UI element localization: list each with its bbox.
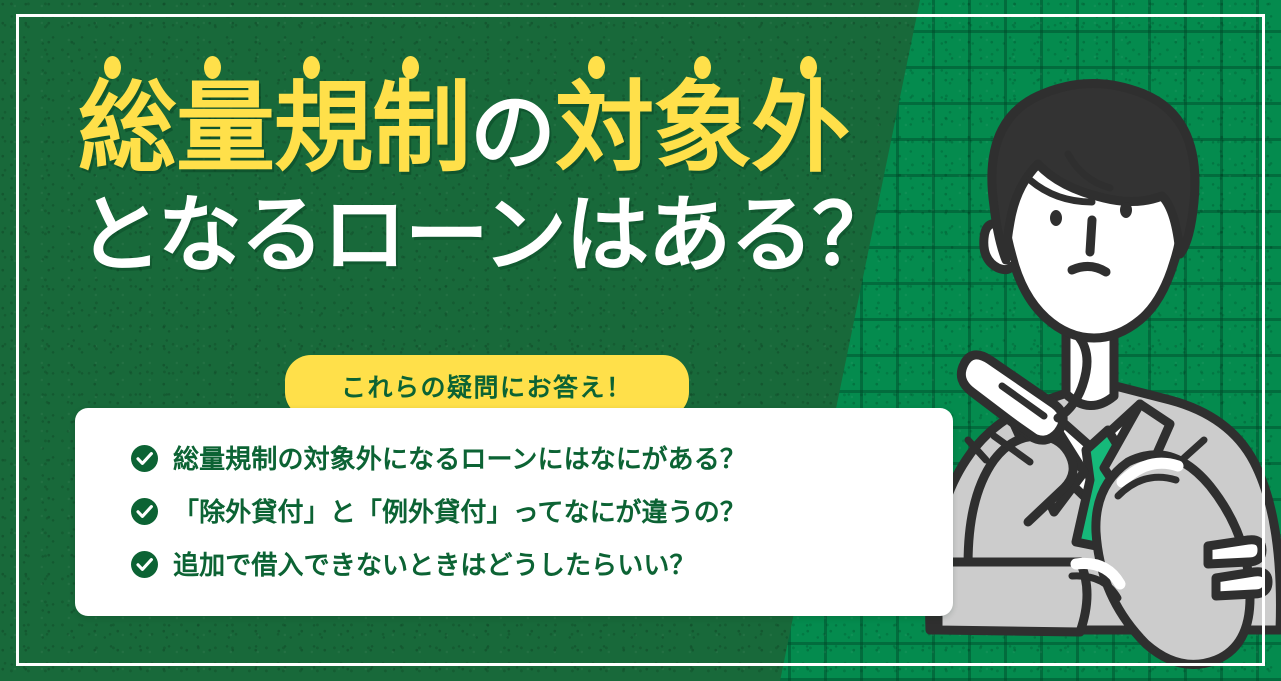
question-list: 総量規制の対象外になるローンにはなにがある？ 「除外貸付」と「例外貸付」ってなに… bbox=[75, 408, 953, 582]
banner-root: 総量規制の対象外 となるローンはある？ これらの疑問にお答え！ 総量規制の対象外… bbox=[0, 0, 1281, 681]
check-circle-icon bbox=[131, 498, 158, 525]
check-circle-icon bbox=[131, 551, 158, 578]
headline-line-1-part-3: 対象外 bbox=[555, 72, 849, 183]
emphasis-dot bbox=[104, 56, 121, 79]
headline-line-1: 総量規制の対象外 bbox=[78, 78, 918, 177]
list-item: 「除外貸付」と「例外貸付」ってなにが違うの？ bbox=[131, 492, 953, 529]
list-item: 総量規制の対象外になるローンにはなにがある？ bbox=[131, 439, 953, 476]
emphasis-dot bbox=[588, 56, 605, 79]
headline-line-1-part-1: 総量規制 bbox=[78, 72, 470, 183]
emphasis-dot bbox=[800, 56, 817, 79]
list-item-label: 総量規制の対象外になるローンにはなにがある？ bbox=[173, 439, 746, 476]
emphasis-dot bbox=[303, 56, 320, 79]
check-circle-icon bbox=[131, 445, 158, 472]
headline-line-2: となるローンはある？ bbox=[78, 193, 918, 277]
list-item: 追加で借入できないときはどうしたらいい？ bbox=[131, 545, 953, 582]
headline-block: 総量規制の対象外 となるローンはある？ bbox=[78, 56, 918, 277]
emphasis-dot bbox=[204, 56, 221, 79]
list-item-label: 追加で借入できないときはどうしたらいい？ bbox=[173, 545, 696, 582]
list-item-label: 「除外貸付」と「例外貸付」ってなにが違うの？ bbox=[173, 492, 746, 529]
emphasis-dot bbox=[694, 56, 711, 79]
emphasis-dot bbox=[402, 56, 419, 79]
question-card: 総量規制の対象外になるローンにはなにがある？ 「除外貸付」と「例外貸付」ってなに… bbox=[75, 408, 953, 616]
emphasis-dots-row bbox=[82, 56, 918, 82]
headline-line-1-part-2: の bbox=[470, 85, 555, 181]
